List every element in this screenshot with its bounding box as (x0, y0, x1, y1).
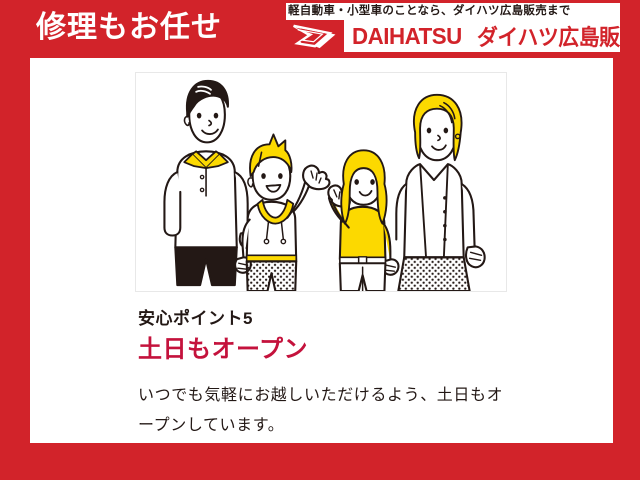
banner-root: 修理もお任せ 軽自動車・小型車のことなら、ダイハツ広島販売まで DAIHATSU… (0, 0, 640, 480)
family-illustration (136, 73, 506, 291)
point-label: 安心ポイント5 (138, 306, 538, 332)
banner-headline: 修理もお任せ (36, 8, 222, 48)
point-title: 土日もオープン (138, 333, 538, 367)
point-body: いつでも気軽にお越しいただけるよう、土日もオープンしています。 (138, 381, 510, 441)
point-text-block: 安心ポイント5 土日もオープン いつでも気軽にお越しいただけるよう、土日もオープ… (138, 306, 538, 441)
brand-logo-jp: ダイハツ広島販売 (477, 20, 620, 52)
brand-logo-bar: DAIHATSU ダイハツ広島販売 (286, 20, 620, 52)
daihatsu-d-mark-icon (286, 20, 344, 52)
content-card: 安心ポイント5 土日もオープン いつでも気軽にお越しいただけるよう、土日もオープ… (30, 58, 613, 443)
brand-logo-en: DAIHATSU (352, 23, 462, 50)
banner-header: 修理もお任せ 軽自動車・小型車のことなら、ダイハツ広島販売まで DAIHATSU… (0, 0, 640, 58)
brand-block: 軽自動車・小型車のことなら、ダイハツ広島販売まで DAIHATSU ダイハツ広島… (286, 3, 620, 52)
brand-tagline: 軽自動車・小型車のことなら、ダイハツ広島販売まで (286, 3, 620, 20)
family-illustration-frame (135, 72, 507, 292)
